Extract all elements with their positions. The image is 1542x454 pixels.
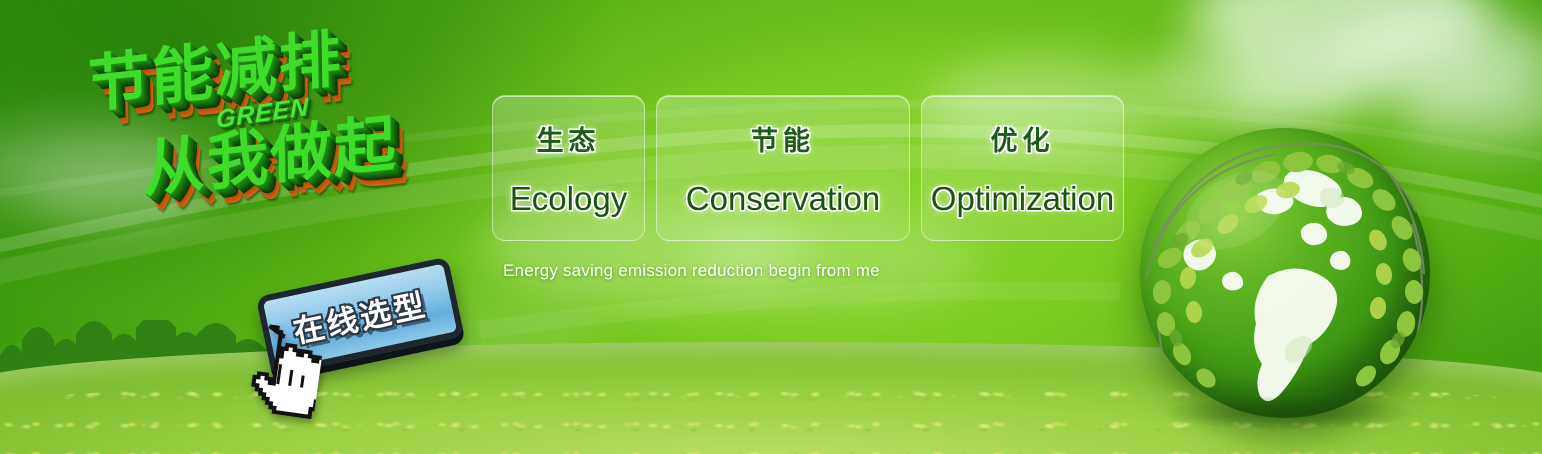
feature-card-cn-label: 生态 <box>537 119 601 158</box>
grass-field-icon <box>0 342 1542 454</box>
feature-card-ecology[interactable]: 生态 Ecology <box>492 95 645 241</box>
cloud-icon <box>1150 40 1360 126</box>
feature-card-optimization[interactable]: 优化 Optimization <box>921 95 1124 241</box>
headline-line-2: 从我做起 <box>142 103 495 202</box>
feature-card-cn-label: 节能 <box>751 119 815 158</box>
headline-accent-word: GREEN <box>216 93 309 135</box>
banner-tagline: Energy saving emission reduction begin f… <box>503 261 880 281</box>
page-title: 节能减排 从我做起 GREEN <box>85 14 508 294</box>
headline-line-1: 节能减排 <box>87 13 486 117</box>
green-energy-banner: 节能减排 从我做起 GREEN 在线选型 生态 Ecology 节能 Conse… <box>0 0 1542 454</box>
feature-card-en-label: Conservation <box>686 180 880 218</box>
cloud-icon <box>30 150 210 220</box>
online-selection-button-label: 在线选型 <box>290 287 430 350</box>
feature-card-conservation[interactable]: 节能 Conservation <box>656 95 910 241</box>
feature-card-en-label: Ecology <box>510 180 627 218</box>
cloud-icon <box>1225 60 1385 122</box>
cloud-icon <box>1330 10 1542 106</box>
cloud-icon <box>1395 70 1542 148</box>
feature-card-en-label: Optimization <box>931 180 1114 218</box>
feature-card-cn-label: 优化 <box>991 119 1055 158</box>
cloud-icon <box>1190 0 1490 74</box>
feature-card-list: 生态 Ecology 节能 Conservation 优化 Optimizati… <box>492 95 1124 241</box>
cloud-icon <box>0 120 210 216</box>
